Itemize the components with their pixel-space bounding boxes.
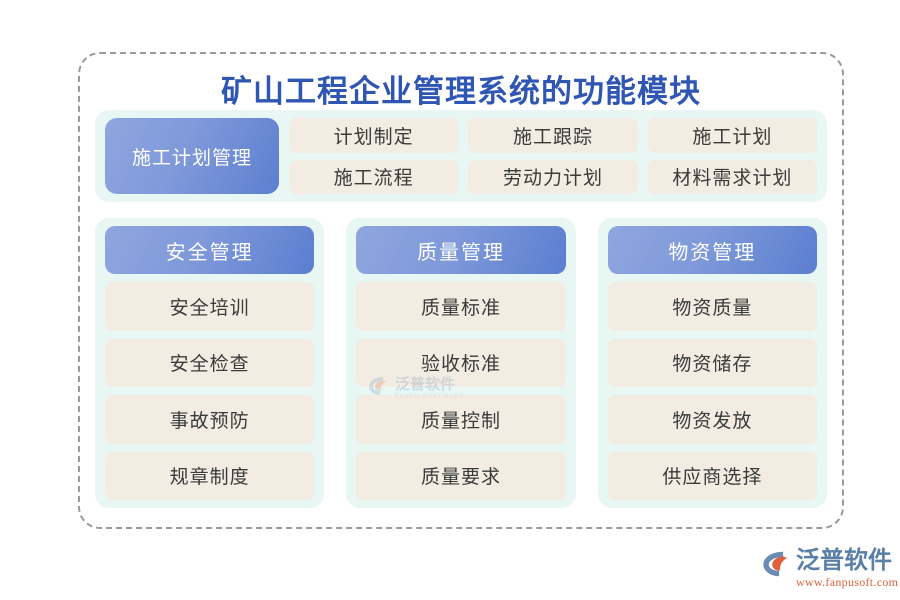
construction-plan-panel: 施工计划管理 计划制定 施工跟踪 施工计划 施工流程 劳动力计划 材料需求计划 [95, 110, 827, 202]
module-item[interactable]: 安全培训 [105, 282, 314, 331]
module-item[interactable]: 劳动力计划 [468, 160, 637, 195]
module-header-quality[interactable]: 质量管理 [356, 226, 565, 274]
module-item[interactable]: 质量控制 [356, 395, 565, 444]
module-item[interactable]: 施工流程 [289, 160, 458, 195]
module-column-safety: 安全管理 安全培训 安全检查 事故预防 规章制度 [95, 218, 324, 508]
module-item[interactable]: 质量要求 [356, 452, 565, 501]
module-column-quality: 质量管理 质量标准 验收标准 质量控制 质量要求 [346, 218, 575, 508]
module-header-construction-plan[interactable]: 施工计划管理 [105, 118, 279, 194]
brand-text: 泛普软件 www.fanpusoft.com [796, 549, 898, 588]
module-item[interactable]: 计划制定 [289, 118, 458, 153]
page-title: 矿山工程企业管理系统的功能模块 [78, 66, 844, 111]
module-item[interactable]: 施工计划 [648, 118, 817, 153]
module-column-materials: 物资管理 物资质量 物资储存 物资发放 供应商选择 [598, 218, 827, 508]
fanpu-logo-icon [762, 550, 792, 583]
module-item[interactable]: 材料需求计划 [648, 160, 817, 195]
construction-plan-items: 计划制定 施工跟踪 施工计划 施工流程 劳动力计划 材料需求计划 [289, 118, 817, 194]
module-item[interactable]: 物资发放 [608, 395, 817, 444]
module-item[interactable]: 验收标准 [356, 339, 565, 388]
brand-logo[interactable]: 泛普软件 www.fanpusoft.com [762, 549, 898, 588]
brand-name: 泛普软件 [796, 549, 898, 573]
brand-url[interactable]: www.fanpusoft.com [796, 576, 898, 588]
module-item[interactable]: 安全检查 [105, 339, 314, 388]
module-item[interactable]: 事故预防 [105, 395, 314, 444]
module-columns: 安全管理 安全培训 安全检查 事故预防 规章制度 质量管理 质量标准 验收标准 … [95, 218, 827, 508]
module-header-materials[interactable]: 物资管理 [608, 226, 817, 274]
module-item[interactable]: 规章制度 [105, 452, 314, 501]
module-item[interactable]: 物资储存 [608, 339, 817, 388]
diagram-content: 矿山工程企业管理系统的功能模块 施工计划管理 计划制定 施工跟踪 施工计划 施工… [78, 52, 844, 529]
module-item[interactable]: 物资质量 [608, 282, 817, 331]
module-header-safety[interactable]: 安全管理 [105, 226, 314, 274]
module-item[interactable]: 施工跟踪 [468, 118, 637, 153]
module-item[interactable]: 质量标准 [356, 282, 565, 331]
module-item[interactable]: 供应商选择 [608, 452, 817, 501]
